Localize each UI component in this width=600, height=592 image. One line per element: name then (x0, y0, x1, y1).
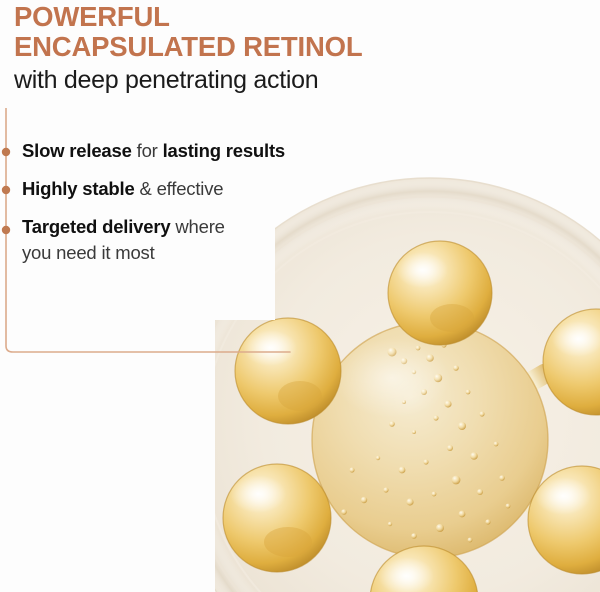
list-item: Slow release for lasting results (22, 138, 352, 164)
bullet-1-normal-1: for (132, 140, 163, 161)
bullet-3-bold-1: Targeted delivery (22, 216, 170, 237)
headline-line-2: ENCAPSULATED RETINOL (14, 32, 594, 62)
list-item: Highly stable & effective (22, 176, 352, 202)
headline-line-1: POWERFUL (14, 2, 594, 32)
bullet-1-bold-1: Slow release (22, 140, 132, 161)
bullet-2-normal-1: & effective (135, 178, 224, 199)
bullet-2-bold-1: Highly stable (22, 178, 135, 199)
bullet-3-normal-1: where (170, 216, 224, 237)
bullet-3-normal-2: you need it most (22, 240, 352, 266)
headline-subline: with deep penetrating action (14, 64, 594, 97)
text-layer: POWERFUL ENCAPSULATED RETINOL with deep … (0, 0, 600, 592)
benefit-list: Slow release for lasting results Highly … (22, 138, 352, 266)
headline-block: POWERFUL ENCAPSULATED RETINOL with deep … (14, 2, 594, 97)
list-item: Targeted delivery where you need it most (22, 214, 352, 266)
bullet-1-bold-2: lasting results (163, 140, 285, 161)
